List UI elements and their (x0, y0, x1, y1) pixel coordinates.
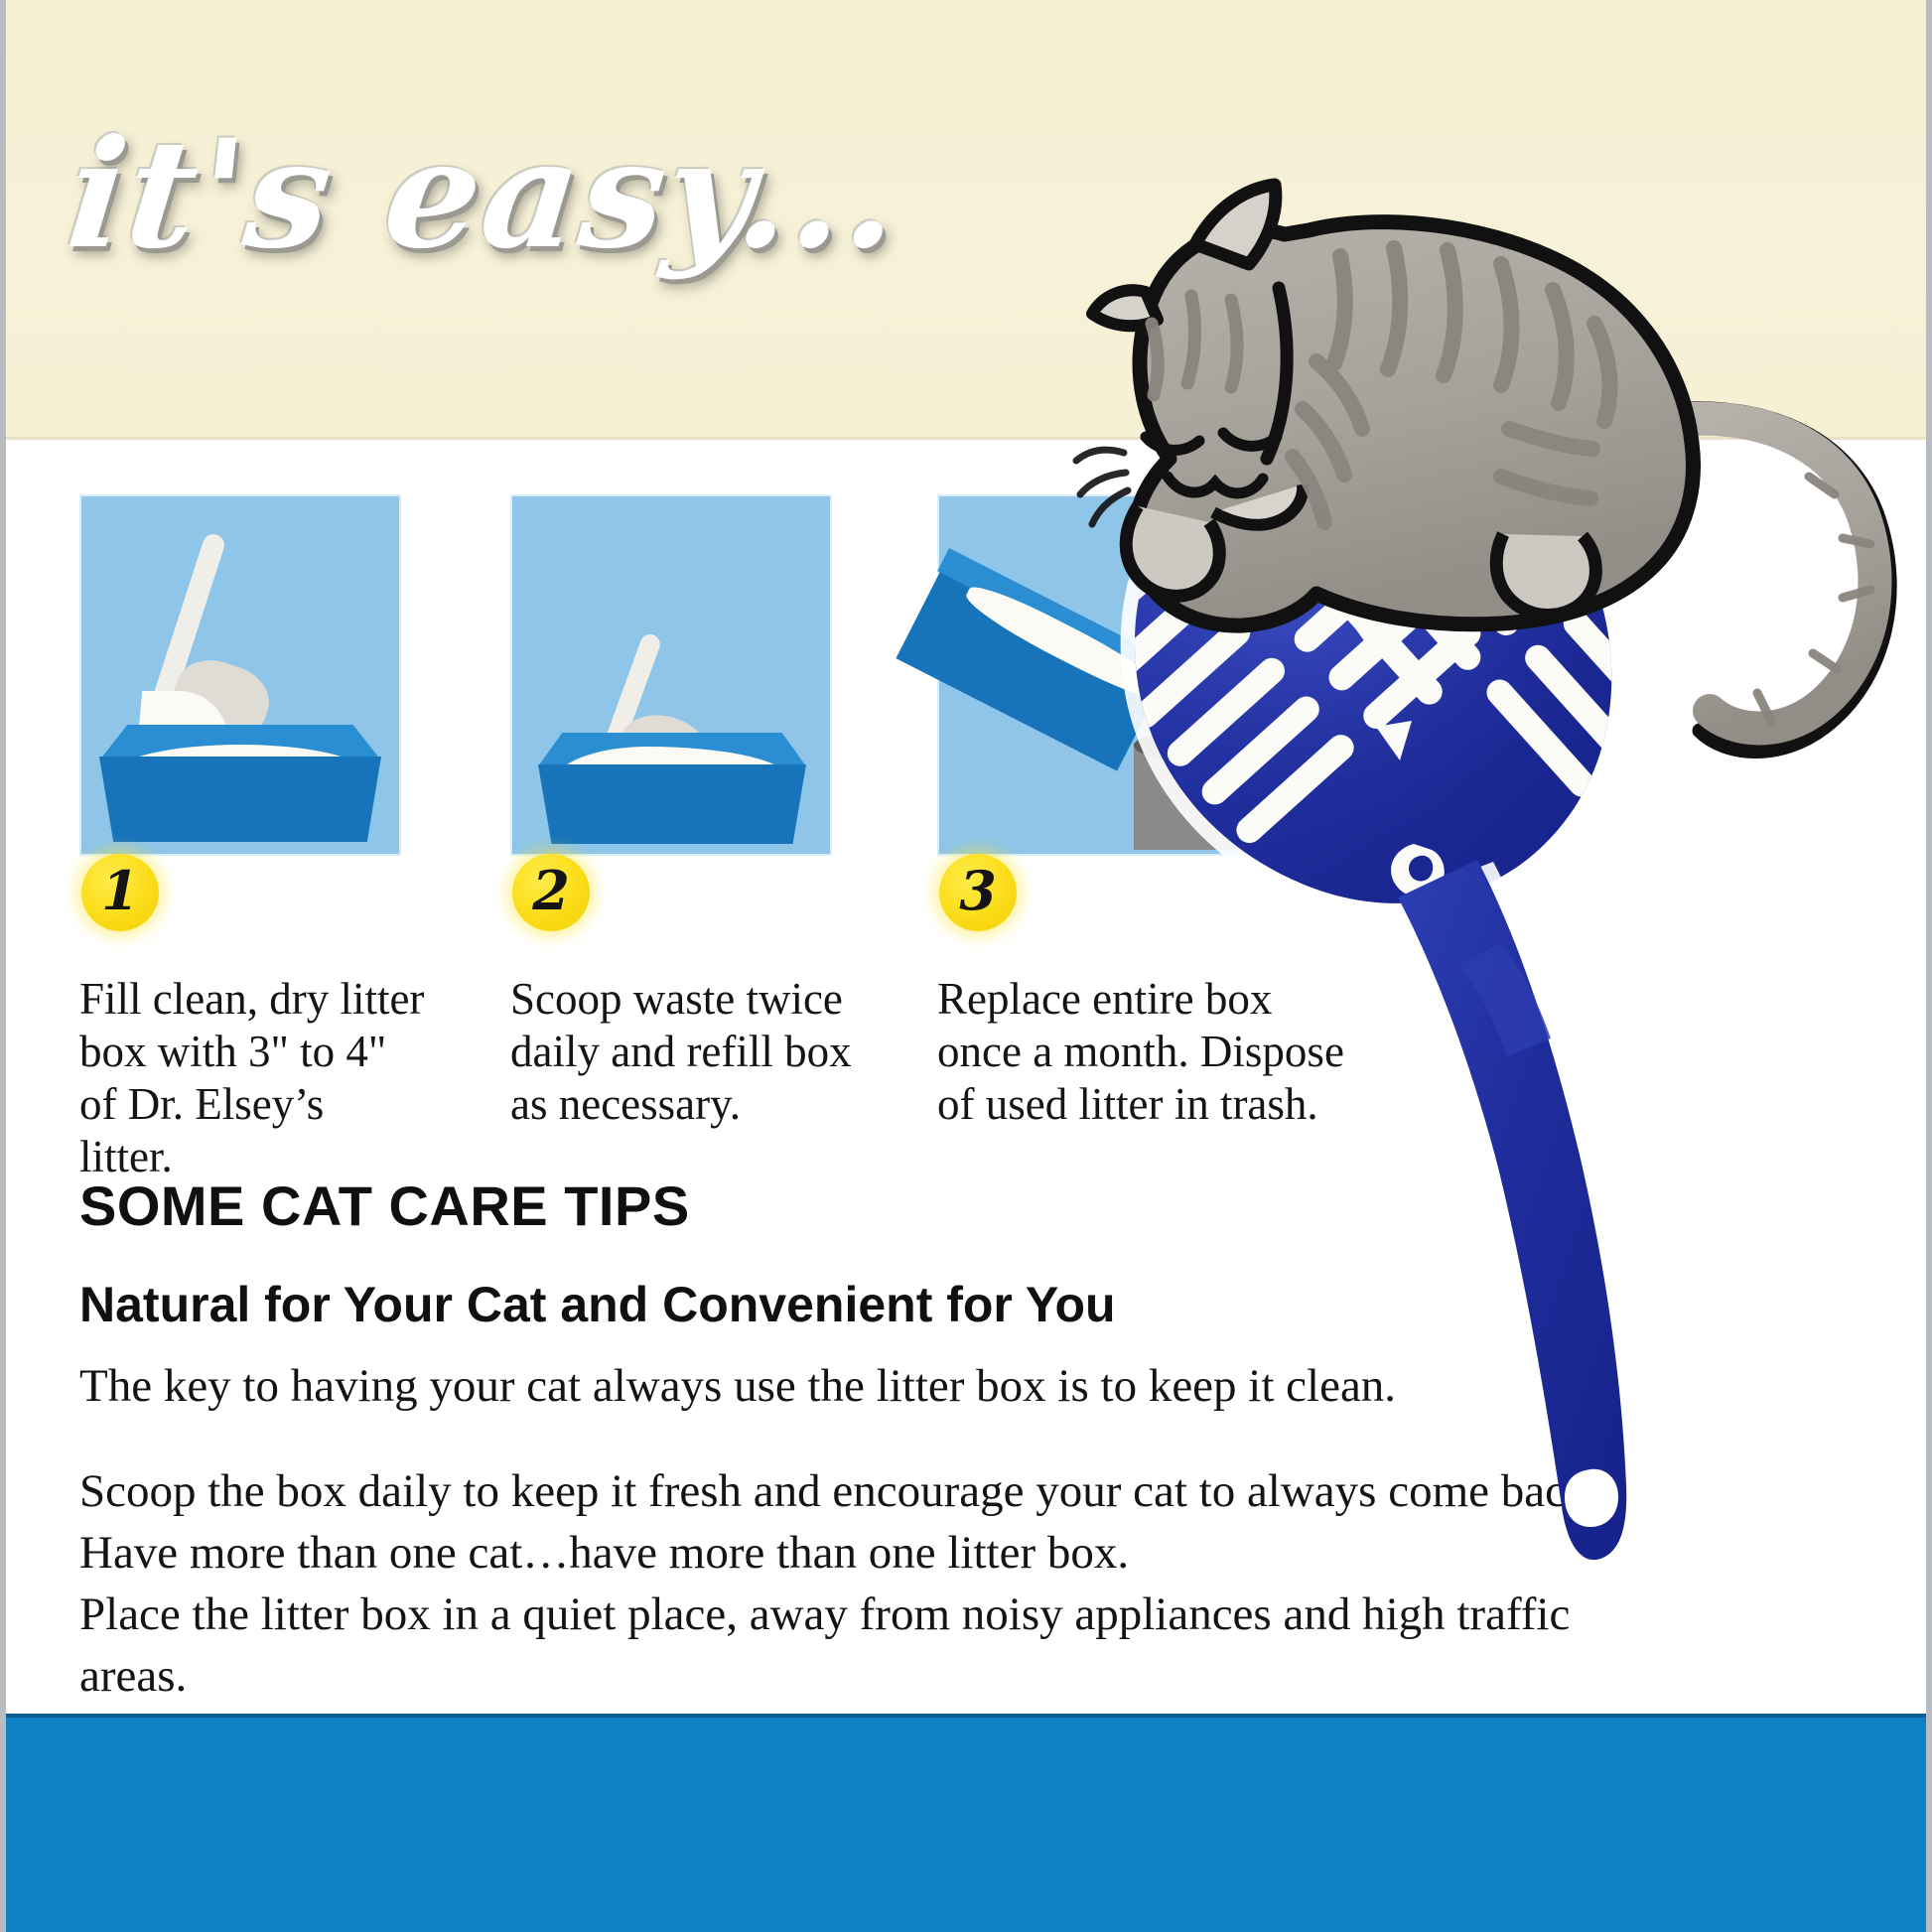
footer-band (6, 1714, 1932, 1932)
litter-box-body (99, 757, 381, 842)
header-band: it's easy... (6, 0, 1932, 440)
step-number-3: 3 (959, 864, 997, 917)
product-infographic-page: it's easy... 1 (0, 0, 1932, 1932)
step-number-1: 1 (101, 864, 139, 917)
step-number-badge-3: 3 (939, 854, 1017, 931)
step-caption-3: Replace entire box once a month. Dispose… (937, 973, 1364, 1131)
trash-can-opening-icon (1134, 731, 1249, 760)
tips-subheading: Natural for Your Cat and Convenient for … (79, 1276, 1678, 1333)
step-2-illustration (512, 496, 830, 854)
step-illustrations (6, 496, 1396, 755)
step-caption-1: Fill clean, dry litter box with 3" to 4"… (79, 973, 427, 1183)
tips-line-1: Scoop the box daily to keep it fresh and… (79, 1460, 1678, 1522)
page-title: it's easy... (61, 107, 909, 282)
step-caption-2: Scoop waste twice daily and refill box a… (510, 973, 868, 1131)
step-3-illustration (939, 496, 1257, 854)
litter-box-body (538, 764, 806, 844)
tips-line-3: Place the litter box in a quiet place, a… (79, 1584, 1678, 1707)
step-number-badge-1: 1 (81, 854, 159, 931)
tips-heading: SOME CAT CARE TIPS (79, 1173, 1678, 1238)
cat-care-tips-section: SOME CAT CARE TIPS Natural for Your Cat … (79, 1173, 1678, 1707)
step-number-badge-2: 2 (512, 854, 590, 931)
tips-line-2: Have more than one cat…have more than on… (79, 1522, 1678, 1584)
step-number-2: 2 (532, 864, 570, 917)
step-1-illustration (81, 496, 399, 854)
tips-intro-paragraph: The key to having your cat always use th… (79, 1355, 1678, 1417)
paragraph-spacer (79, 1417, 1678, 1460)
